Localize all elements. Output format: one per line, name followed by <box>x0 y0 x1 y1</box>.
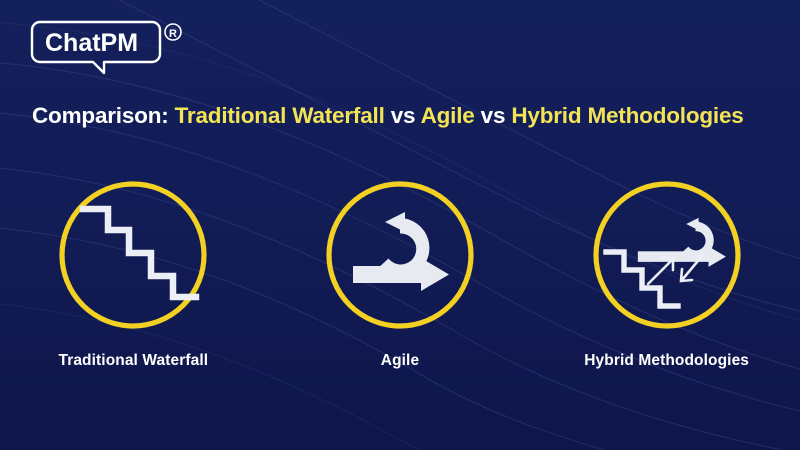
agile-sprint-loop-icon <box>325 180 475 330</box>
brand-logo[interactable]: ChatPM R <box>30 20 190 76</box>
card-label-hybrid-methodologies: Hybrid Methodologies <box>584 352 749 370</box>
svg-text:R: R <box>169 28 177 40</box>
card-label-agile: Agile <box>381 352 419 370</box>
title-separator-2: vs <box>481 103 506 128</box>
card-agile[interactable]: Agile <box>277 180 523 370</box>
card-label-traditional-waterfall: Traditional Waterfall <box>58 352 208 370</box>
title-item-agile: Agile <box>421 103 475 128</box>
title-item-waterfall: Traditional Waterfall <box>175 103 385 128</box>
card-traditional-waterfall[interactable]: Traditional Waterfall <box>10 180 256 370</box>
title-separator-1: vs <box>391 103 416 128</box>
brand-wordmark: ChatPM <box>45 29 138 57</box>
hybrid-staircase-loop-icon <box>592 180 742 330</box>
title-prefix: Comparison: <box>32 103 169 128</box>
staircase-icon <box>58 180 208 330</box>
card-hybrid-methodologies[interactable]: Hybrid Methodologies <box>544 180 790 370</box>
registered-trademark-icon: R <box>165 24 181 40</box>
page-title: Comparison: Traditional Waterfall vs Agi… <box>32 103 792 129</box>
slide-canvas: ChatPM R Comparison: Traditional Waterfa… <box>0 0 800 450</box>
title-item-hybrid: Hybrid Methodologies <box>511 103 743 128</box>
methodology-cards: Traditional Waterfall Agile <box>0 180 800 370</box>
